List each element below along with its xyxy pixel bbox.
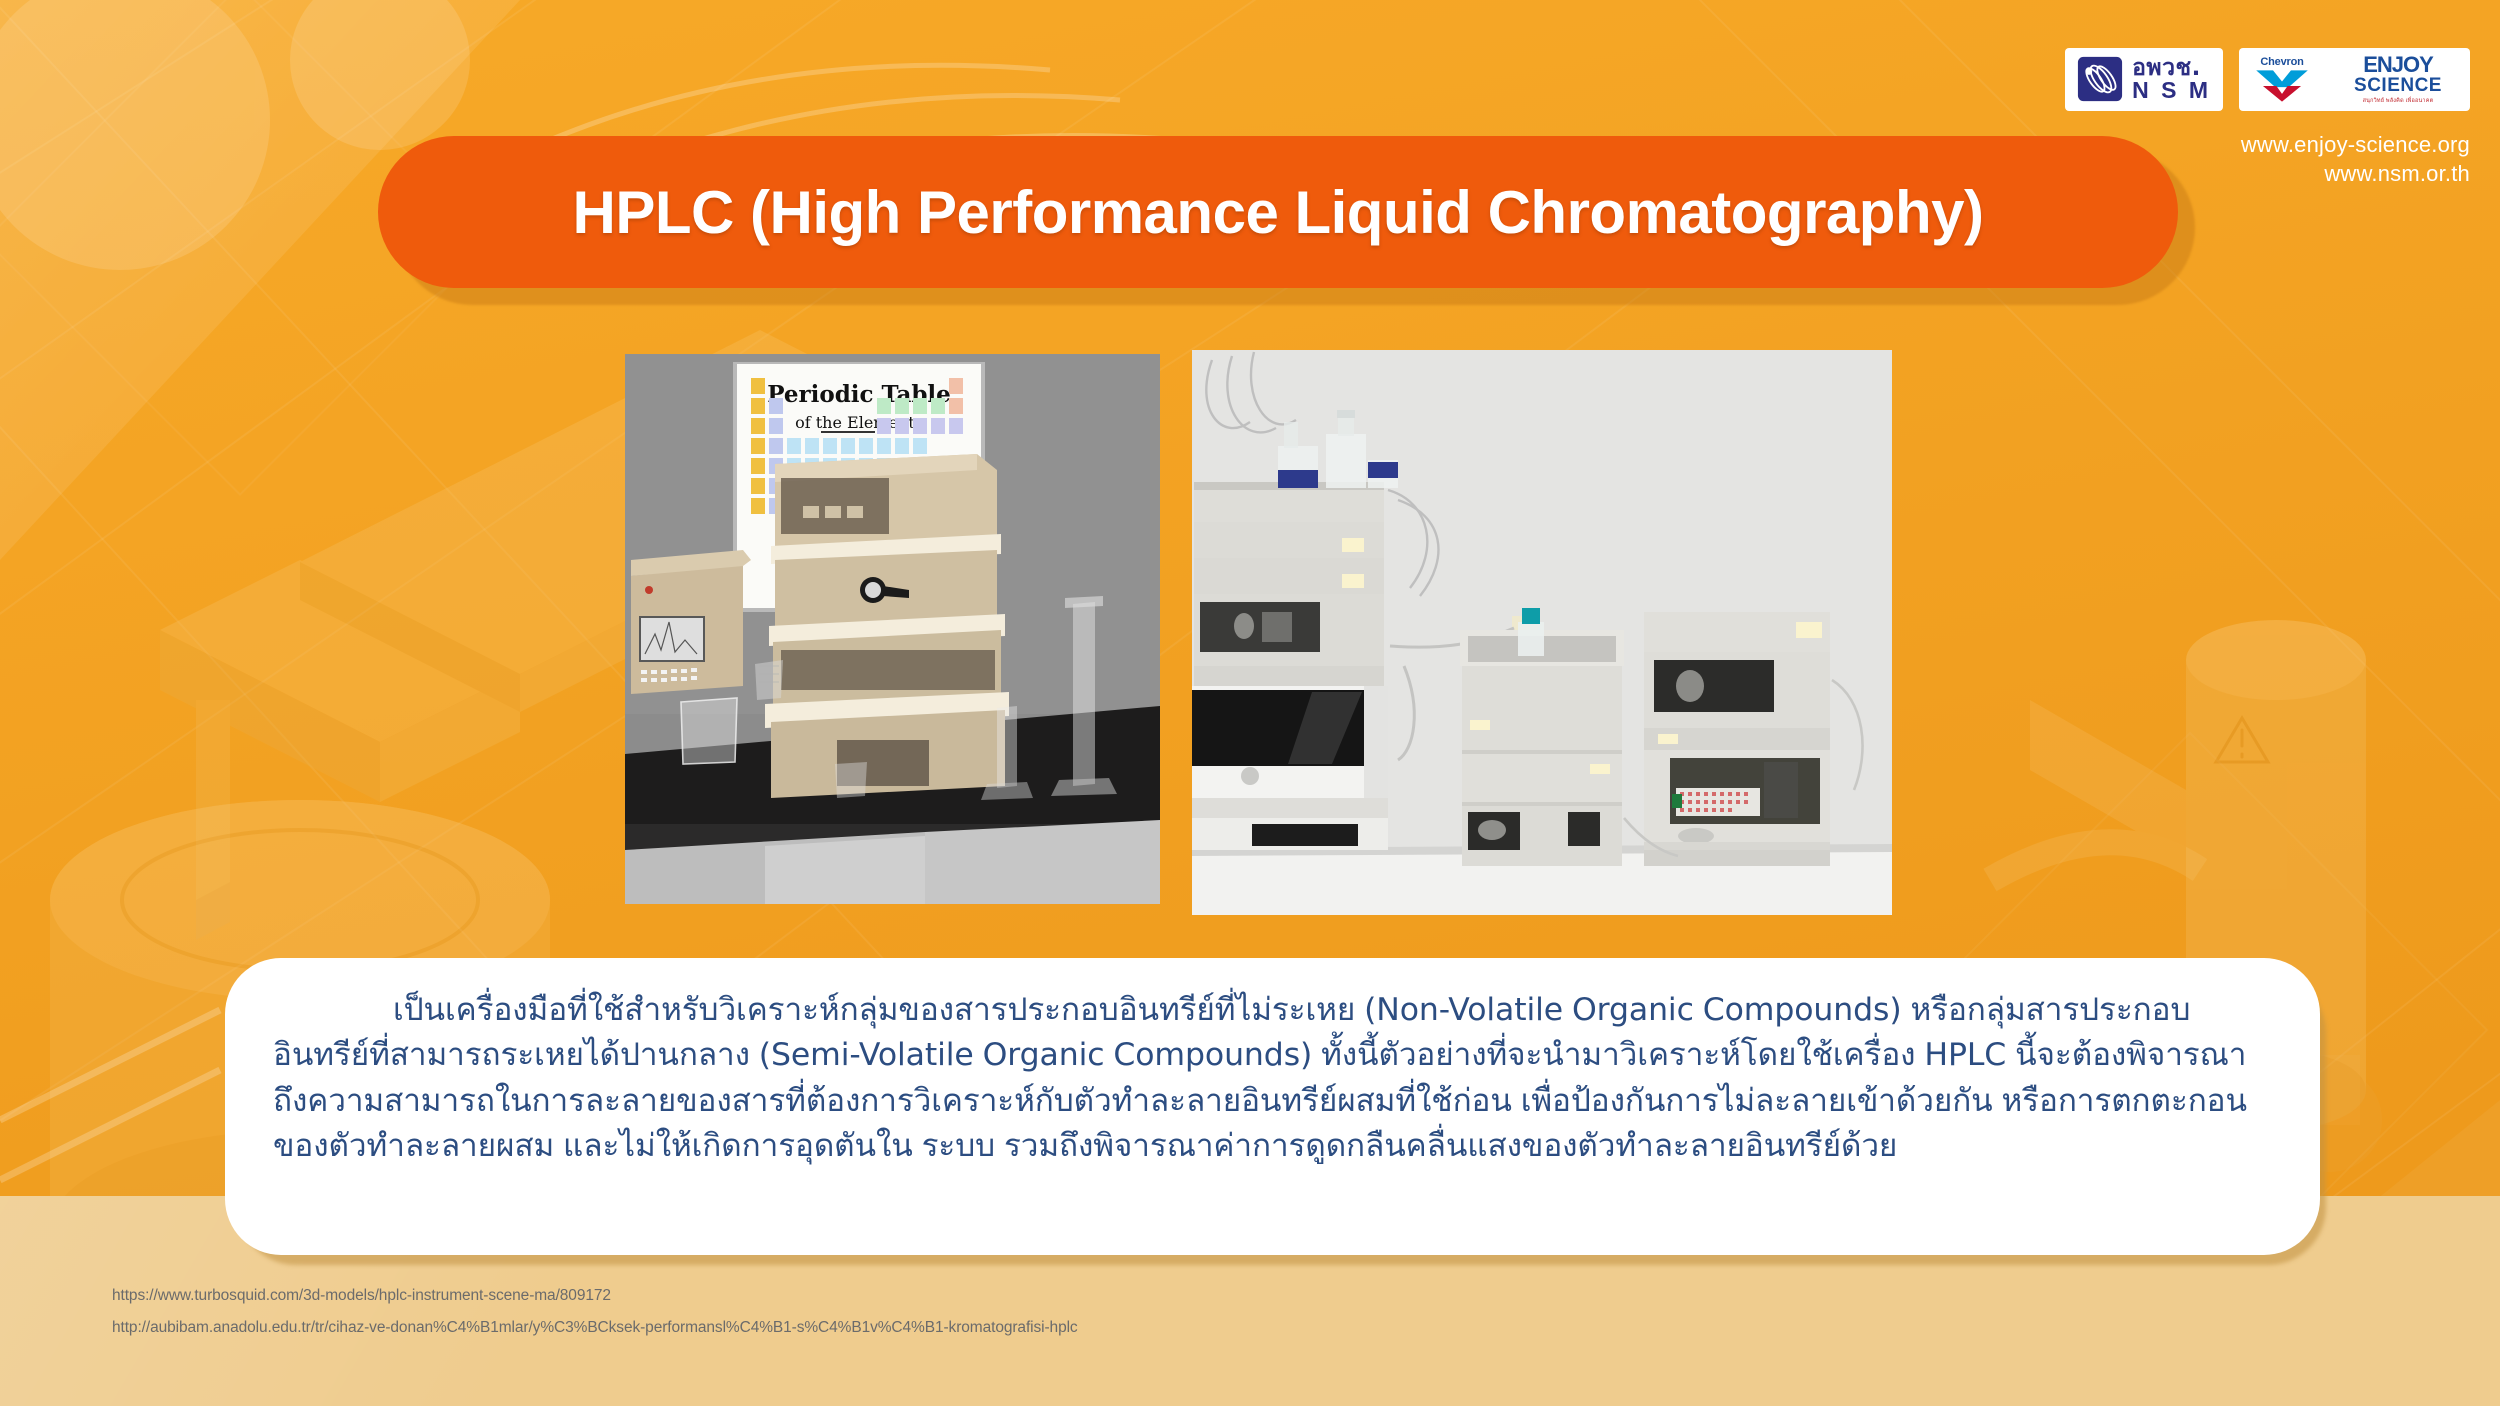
- description-card: เป็นเครื่องมือที่ใช้สำหรับวิเคราะห์กลุ่ม…: [225, 958, 2320, 1255]
- nsm-logo: อพวช. N S M: [2065, 48, 2223, 111]
- nsm-latin-abbr: N S M: [2132, 79, 2211, 102]
- enjoy-science-logo: ENJOY SCIENCE สนุกวิทย์ พลังคิด เพื่ออนา…: [2338, 54, 2458, 105]
- description-text: เป็นเครื่องมือที่ใช้สำหรับวิเคราะห์กลุ่ม…: [273, 988, 2272, 1169]
- organization-urls: www.enjoy-science.org www.nsm.or.th: [2241, 130, 2470, 188]
- chevron-hallmark-icon: [2254, 69, 2310, 103]
- slide-canvas: อพวช. N S M Chevron ENJOY SCIENCE สนุกวิ…: [0, 0, 2500, 1406]
- nsm-swirl-icon: [2077, 56, 2123, 102]
- partner-logo-box: Chevron ENJOY SCIENCE สนุกวิทย์ พลังคิด …: [2239, 48, 2470, 111]
- reference-link-1[interactable]: https://www.turbosquid.com/3d-models/hpl…: [112, 1280, 1078, 1312]
- reference-links: https://www.turbosquid.com/3d-models/hpl…: [112, 1280, 1078, 1344]
- enjoy-line1: ENJOY: [2363, 54, 2433, 76]
- url-nsm[interactable]: www.nsm.or.th: [2241, 159, 2470, 188]
- title-banner: HPLC (High Performance Liquid Chromatogr…: [378, 136, 2178, 288]
- chevron-wordmark: Chevron: [2260, 56, 2303, 68]
- enjoy-subtitle: สนุกวิทย์ พลังคิด เพื่ออนาคต: [2363, 97, 2434, 105]
- nsm-thai-abbr: อพวช.: [2132, 57, 2211, 80]
- chevron-logo: Chevron: [2251, 56, 2313, 103]
- url-enjoy-science[interactable]: www.enjoy-science.org: [2241, 130, 2470, 159]
- page-title: HPLC (High Performance Liquid Chromatogr…: [573, 178, 1984, 247]
- enjoy-line2: SCIENCE: [2354, 76, 2442, 96]
- hplc-photograph-image: [1192, 350, 1892, 915]
- hplc-3d-render-image: Periodic Table of the Elements: [625, 354, 1160, 904]
- logo-row: อพวช. N S M Chevron ENJOY SCIENCE สนุกวิ…: [2065, 48, 2470, 111]
- reference-link-2[interactable]: http://aubibam.anadolu.edu.tr/tr/cihaz-v…: [112, 1312, 1078, 1344]
- nsm-wordmark: อพวช. N S M: [2132, 57, 2211, 102]
